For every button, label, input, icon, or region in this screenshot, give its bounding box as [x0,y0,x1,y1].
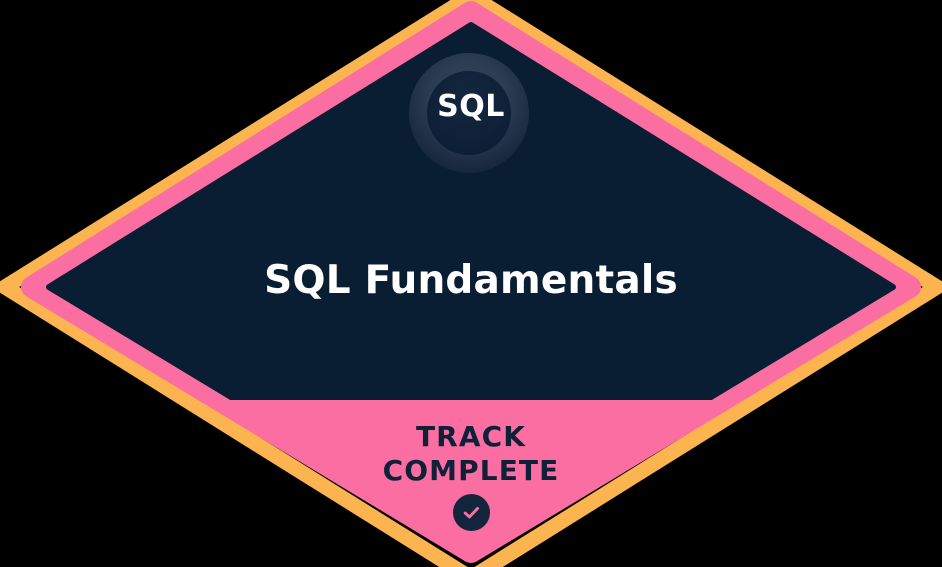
sql-chip-label: SQL [0,92,942,122]
track-title: SQL Fundamentals [0,259,942,303]
track-status-line-2: COMPLETE [0,454,942,488]
check-mark-icon [461,502,482,523]
track-status-line-1: TRACK [0,420,942,454]
track-status: TRACK COMPLETE [0,420,942,487]
check-circle-icon [453,494,490,531]
badge-canvas: SQL SQL Fundamentals TRACK COMPLETE [0,0,942,567]
